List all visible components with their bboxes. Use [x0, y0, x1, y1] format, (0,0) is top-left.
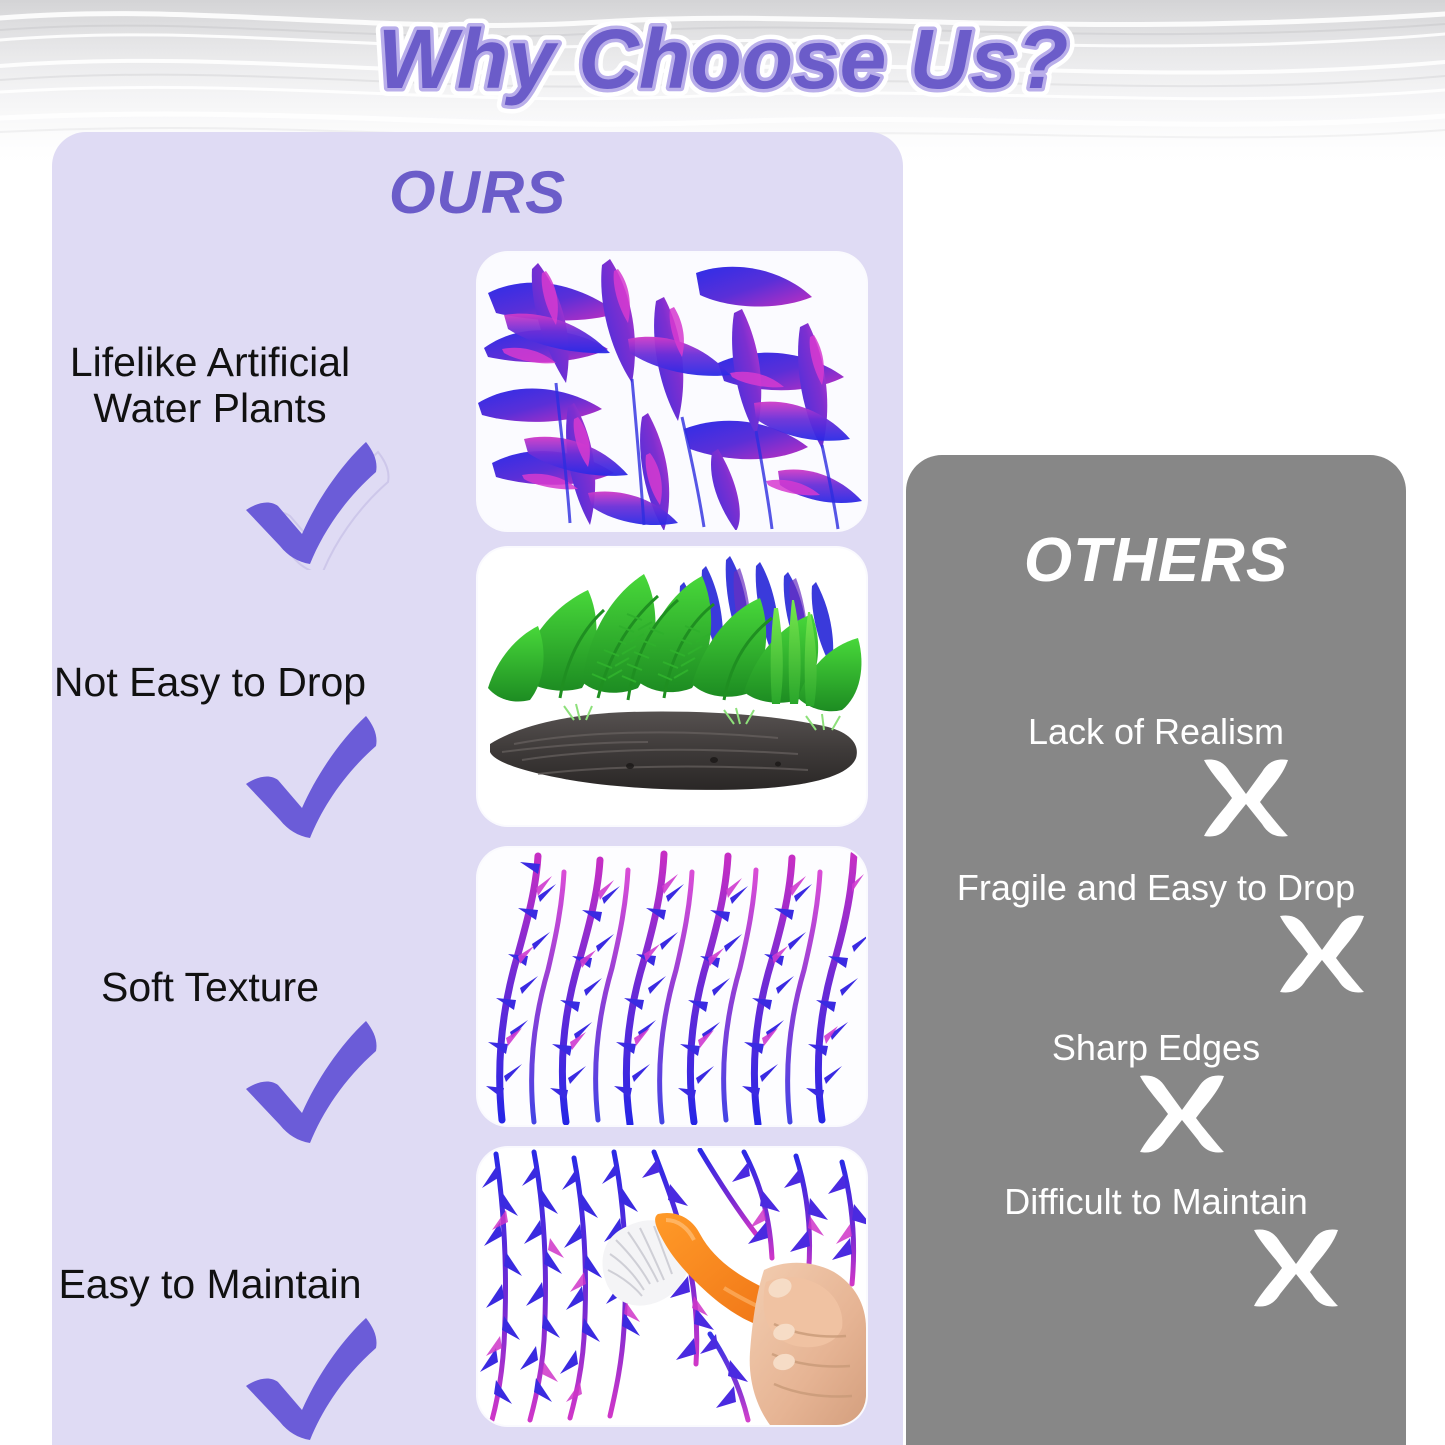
ours-feature-label: Not Easy to Drop: [0, 660, 420, 706]
x-mark-holder: [906, 1068, 1406, 1154]
ours-feature-label: Soft Texture: [0, 965, 420, 1011]
page-title-text: Why Choose Us?: [377, 12, 1068, 106]
product-photo-lifelike-plants: [478, 253, 866, 530]
check-mark-holder: [0, 438, 420, 570]
ours-feature-row: Lifelike Artificial Water Plants: [0, 340, 420, 570]
x-icon: [1248, 1224, 1344, 1310]
x-mark-holder: [906, 908, 1406, 994]
x-mark-holder: [906, 1222, 1406, 1308]
others-drawback-row: Lack of Realism: [906, 712, 1406, 838]
ours-feature-row: Easy to Maintain: [0, 1262, 420, 1445]
check-icon: [216, 1314, 396, 1445]
others-drawback-row: Sharp Edges: [906, 1028, 1406, 1154]
x-mark-holder: [906, 752, 1406, 838]
ours-feature-row: Not Easy to Drop: [0, 660, 420, 844]
others-drawback-row: Fragile and Easy to Drop: [906, 868, 1406, 994]
others-heading: OTHERS: [906, 525, 1406, 596]
product-photo-easy-maintain: [478, 1148, 866, 1425]
x-icon: [1198, 754, 1294, 840]
comparison-infographic: Why Choose Us? Why Choose Us? Why Choose…: [0, 0, 1445, 1445]
product-photo-soft-texture: [478, 848, 866, 1125]
check-mark-holder: [0, 1017, 420, 1149]
others-drawback-label: Fragile and Easy to Drop: [906, 868, 1406, 908]
ours-feature-label: Easy to Maintain: [0, 1262, 420, 1308]
ours-feature-label: Lifelike Artificial Water Plants: [0, 340, 420, 432]
others-drawback-label: Lack of Realism: [906, 712, 1406, 752]
others-drawback-label: Sharp Edges: [906, 1028, 1406, 1068]
product-photo-driftwood-base: [478, 548, 866, 825]
page-title: Why Choose Us? Why Choose Us? Why Choose…: [0, 8, 1445, 120]
check-mark-holder: [0, 1314, 420, 1445]
hand: [750, 1263, 866, 1425]
x-icon: [1134, 1070, 1230, 1156]
check-icon: [216, 1017, 396, 1149]
x-icon: [1274, 910, 1370, 996]
check-icon: [216, 712, 396, 844]
check-mark-holder: [0, 712, 420, 844]
others-drawback-label: Difficult to Maintain: [906, 1182, 1406, 1222]
ours-heading: OURS: [52, 158, 903, 227]
others-drawback-row: Difficult to Maintain: [906, 1182, 1406, 1308]
check-icon: [216, 438, 396, 570]
ours-feature-row: Soft Texture: [0, 965, 420, 1149]
